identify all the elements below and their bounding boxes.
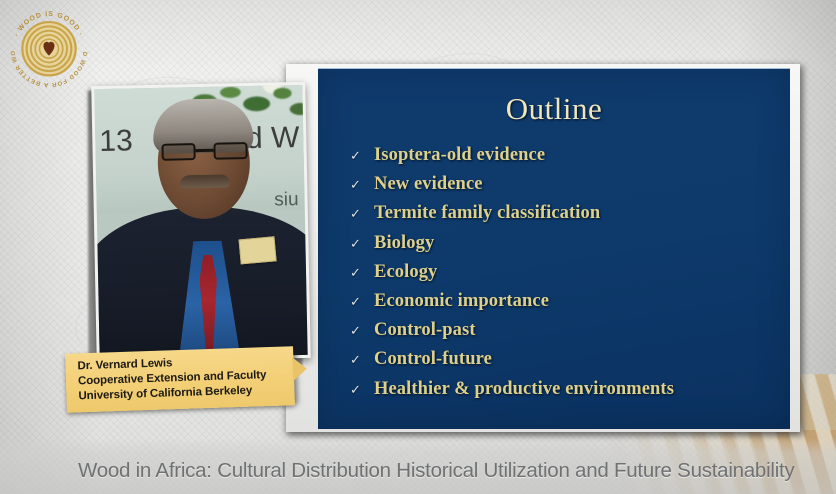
- speaker-moustache: [180, 174, 230, 188]
- list-item-label: Healthier & productive environments: [374, 379, 674, 400]
- list-item: ✓ Termite family classification: [350, 203, 780, 224]
- wood-is-good-logo: · WOOD IS GOOD · GOOD WOOD FOR A BETTER …: [6, 4, 92, 90]
- check-icon: ✓: [350, 178, 374, 191]
- slide-title: Outline: [318, 91, 790, 127]
- list-item-label: Economic importance: [374, 291, 549, 312]
- glasses-bridge: [196, 149, 214, 152]
- presentation-slide: Outline ✓ Isoptera-old evidence ✓ New ev…: [318, 68, 790, 429]
- photo-image: 13 rld W siu: [94, 85, 307, 359]
- list-item: ✓ New evidence: [350, 174, 780, 195]
- check-icon: ✓: [350, 237, 374, 250]
- list-item: ✓ Healthier & productive environments: [350, 379, 780, 400]
- glasses-lens-left: [161, 143, 195, 161]
- slide-bullet-list: ✓ Isoptera-old evidence ✓ New evidence ✓…: [350, 145, 780, 408]
- check-icon: ✓: [350, 266, 374, 279]
- check-icon: ✓: [350, 383, 374, 396]
- glasses-lens-right: [213, 142, 247, 160]
- photo-backdrop-sub-text: siu: [274, 189, 299, 211]
- check-icon: ✓: [350, 324, 374, 337]
- speaker-photo: 13 rld W siu: [91, 82, 310, 362]
- list-item-label: Ecology: [374, 262, 437, 283]
- list-item-label: New evidence: [374, 174, 483, 195]
- check-icon: ✓: [350, 295, 374, 308]
- check-icon: ✓: [350, 149, 374, 162]
- check-icon: ✓: [350, 353, 374, 366]
- list-item: ✓ Ecology: [350, 262, 780, 283]
- photo-backdrop-left-text: 13: [99, 124, 133, 159]
- video-frame: · WOOD IS GOOD · GOOD WOOD FOR A BETTER …: [0, 0, 836, 494]
- photo-border: 13 rld W siu: [91, 82, 310, 362]
- list-item: ✓ Isoptera-old evidence: [350, 145, 780, 166]
- speaker-name-badge: [239, 236, 277, 264]
- list-item-label: Biology: [374, 233, 434, 254]
- footer-title: Wood in Africa: Cultural Distribution Hi…: [78, 459, 794, 483]
- list-item: ✓ Control-future: [350, 349, 780, 370]
- list-item-label: Isoptera-old evidence: [374, 145, 545, 166]
- list-item-label: Control-future: [374, 349, 492, 370]
- speaker-glasses: [161, 142, 247, 161]
- list-item-label: Termite family classification: [374, 203, 600, 224]
- list-item: ✓ Economic importance: [350, 291, 780, 312]
- list-item: ✓ Control-past: [350, 320, 780, 341]
- list-item-label: Control-past: [374, 320, 476, 341]
- check-icon: ✓: [350, 207, 374, 220]
- list-item: ✓ Biology: [350, 233, 780, 254]
- caption-fold-icon: [292, 357, 307, 381]
- speaker-caption: Dr. Vernard Lewis Cooperative Extension …: [65, 346, 295, 412]
